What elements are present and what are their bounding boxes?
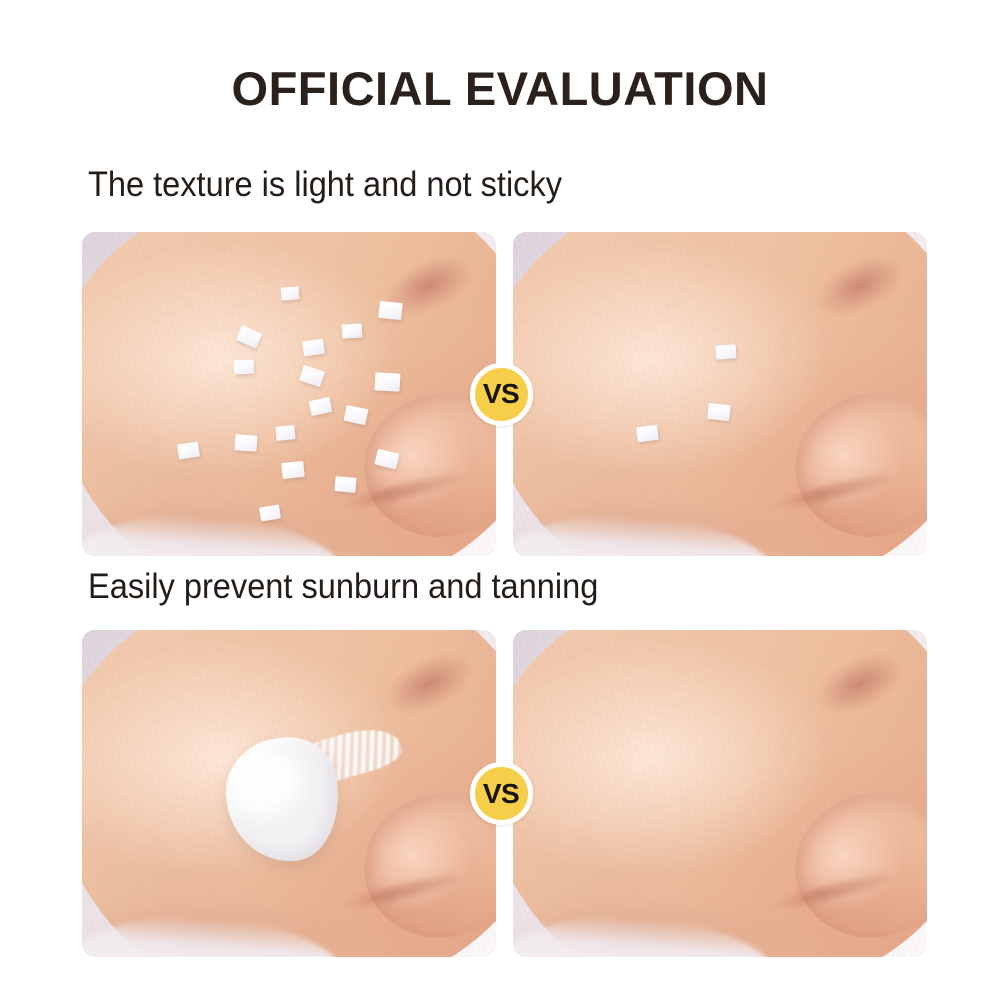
paper-square [275,426,295,441]
section-heading-texture: The texture is light and not sticky [88,164,562,206]
section-heading-sunburn: Easily prevent sunburn and tanning [88,566,598,608]
paper-square [375,372,401,391]
paper-square [234,360,254,375]
paper-square [334,476,356,493]
photo-hand-cream-absorbed [513,630,927,957]
photo-hand-many-papers [82,232,496,556]
photo-hand-with-cream [82,630,496,957]
page-title: OFFICIAL EVALUATION [0,62,1000,116]
comparison-row-sunburn: VS [82,630,920,957]
paper-square [707,403,731,421]
paper-square [177,441,200,459]
paper-square [281,461,305,479]
evaluation-poster: { "page": { "title": "OFFICIAL EVALUATIO… [0,0,1000,1000]
paper-square [715,345,736,361]
paper-square [303,338,326,356]
vs-badge-texture: VS [470,363,533,426]
paper-square [235,434,258,452]
paper-square [280,286,299,300]
paper-square [378,300,403,319]
photo-hand-few-papers [513,232,927,556]
paper-square [636,425,658,442]
comparison-row-texture: VS [82,232,920,556]
vs-badge-sunburn: VS [470,762,533,825]
paper-square [342,324,363,339]
